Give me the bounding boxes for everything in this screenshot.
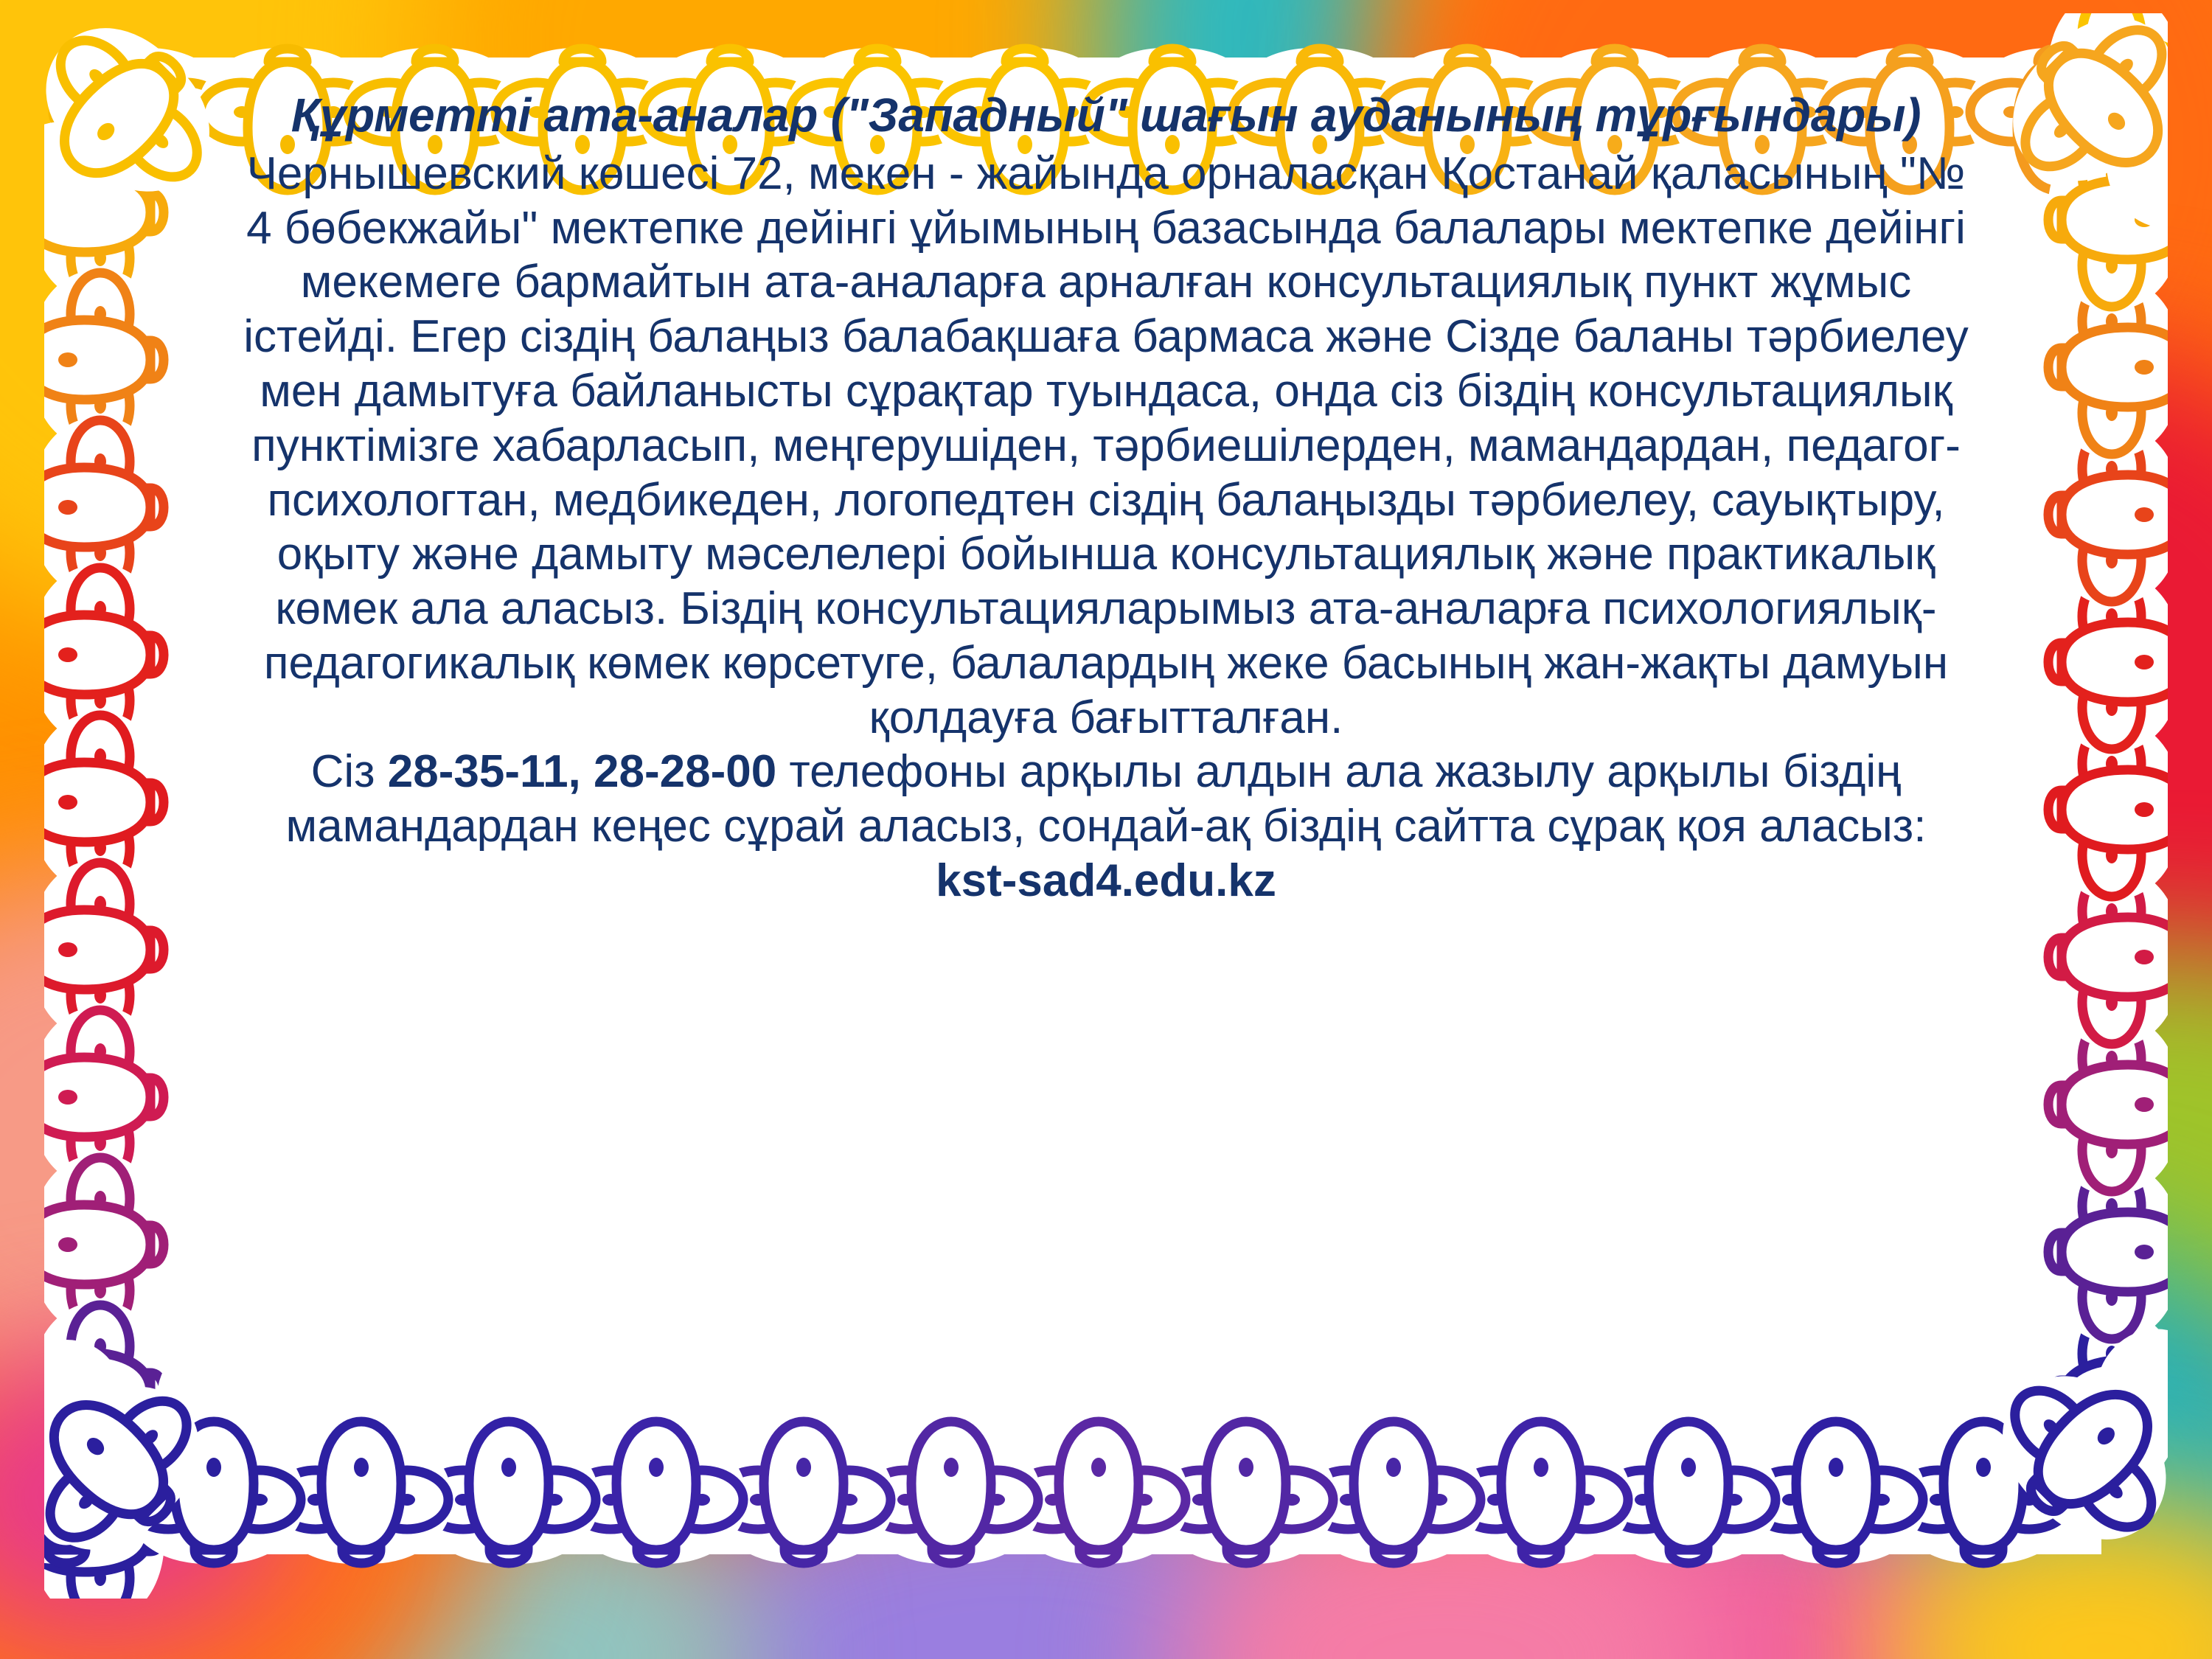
poster-title: Құрметті ата-аналар ("Западный" шағын ау… <box>243 88 1969 142</box>
poster-text-block: Құрметті ата-аналар ("Западный" шағын ау… <box>243 88 1969 908</box>
phone-numbers: 28-35-11, 28-28-00 <box>388 746 776 797</box>
poster-body-paragraph: Чернышевский көшесі 72, мекен - жайында … <box>243 147 1969 745</box>
poster-canvas: Құрметті ата-аналар ("Западный" шағын ау… <box>0 0 2212 1659</box>
website-url: kst-sad4.edu.kz <box>243 854 1969 908</box>
poster-contact-line: Сіз 28-35-11, 28-28-00 телефоны арқылы а… <box>243 745 1969 854</box>
contact-prefix: Сіз <box>311 746 388 797</box>
